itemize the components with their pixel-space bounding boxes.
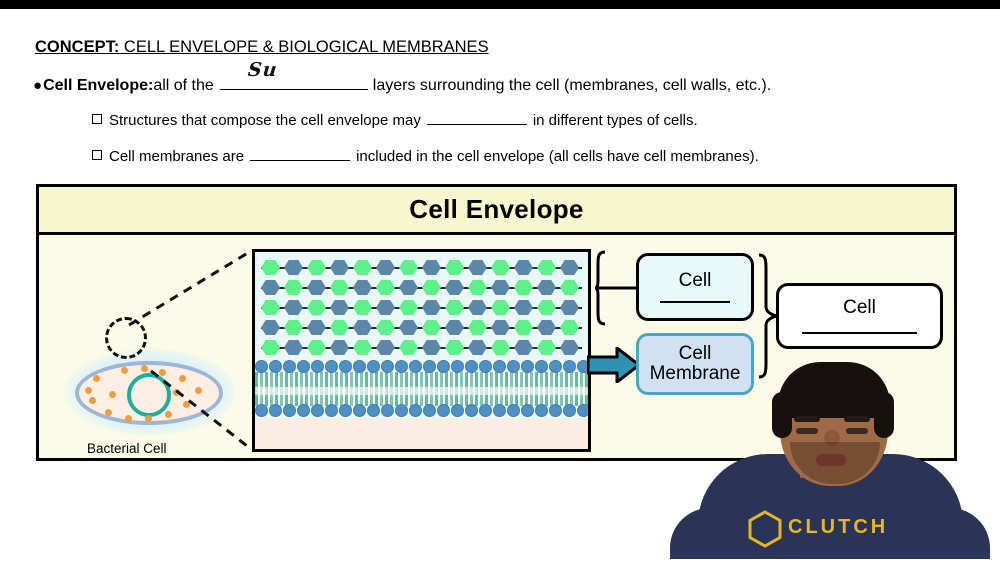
top-letterbox-bar (0, 0, 1000, 9)
ribosome-dot (145, 415, 152, 422)
peptidoglycan-row (255, 320, 588, 335)
cell-wall-box-blank (660, 301, 729, 303)
bullet-term: Cell Envelope: (43, 77, 153, 95)
cell-envelope-box[interactable]: Cell (776, 283, 943, 349)
phospholipid-bilayer (255, 360, 588, 418)
bullet-text-after: layers surrounding the cell (membranes, … (373, 77, 771, 95)
eye-right (846, 428, 868, 434)
blank-line-3 (250, 146, 350, 161)
ribosome-dot (141, 365, 148, 372)
ribosome-dot (85, 387, 92, 394)
slide-stage: CONCEPT: CELL ENVELOPE & BIOLOGICAL MEMB… (0, 0, 1000, 562)
membrane-detail-box (252, 249, 591, 452)
square-bullet-icon (92, 150, 102, 160)
bilayer-midline (255, 387, 588, 395)
peptidoglycan-row (255, 280, 588, 295)
ribosome-dot (105, 409, 112, 416)
cell-wall-brace-icon (595, 249, 639, 327)
ribosome-dot (89, 397, 96, 404)
figure-title: Cell Envelope (39, 187, 954, 235)
cell-envelope-box-label: Cell (843, 298, 876, 318)
bacterial-cell-illustration: Bacterial Cell (59, 335, 244, 460)
ribosome-dot (183, 401, 190, 408)
cytoplasm-region (255, 418, 588, 449)
clutch-hexagon-logo-icon (748, 510, 782, 548)
ribosome-dot (121, 367, 128, 374)
square-bullet-icon (92, 114, 102, 124)
ribosome-dot (109, 391, 116, 398)
peptidoglycan-row (255, 300, 588, 315)
eye-left (796, 428, 818, 434)
zoom-selection-circle (105, 317, 147, 359)
sub1-text-after: in different types of cells. (533, 112, 698, 129)
ribosome-dot (179, 375, 186, 382)
sub1-text-before: Structures that compose the cell envelop… (109, 112, 421, 129)
bilayer-outer-heads (255, 360, 588, 374)
blank-line-2 (427, 110, 527, 125)
cell-wall-box-label: Cell (679, 271, 712, 291)
concept-label: CONCEPT: (35, 38, 119, 56)
membrane-arrow-icon (587, 347, 641, 383)
sub2-text-after: included in the cell envelope (all cells… (356, 148, 759, 165)
sub-bullet-1: Structures that compose the cell envelop… (92, 110, 698, 129)
sub2-text-before: Cell membranes are (109, 148, 244, 165)
bullet-text-before: all of the (153, 77, 213, 95)
hair-left-side (772, 392, 792, 438)
concept-title: CELL ENVELOPE & BIOLOGICAL MEMBRANES (119, 38, 488, 56)
instructor-webcam-overlay: CLUTCH (660, 358, 1000, 562)
bullet-cell-envelope: ● Cell Envelope: all of the Su layers su… (33, 74, 771, 95)
blank-line-1: Su (220, 74, 368, 90)
bacterial-cell-label: Bacterial Cell (87, 441, 167, 456)
peptidoglycan-row (255, 340, 588, 355)
ribosome-dot (93, 375, 100, 382)
ribosome-dot (159, 369, 166, 376)
ribosome-dot (125, 415, 132, 422)
ribosome-dot (173, 389, 180, 396)
hair-right-side (874, 392, 894, 438)
shirt-brand-text: CLUTCH (788, 516, 888, 539)
plasmid-circle-icon (127, 373, 171, 417)
peptidoglycan-row (255, 260, 588, 275)
concept-heading: CONCEPT: CELL ENVELOPE & BIOLOGICAL MEMB… (35, 38, 489, 57)
peptidoglycan-layer (255, 252, 588, 362)
bullet-dot-icon: ● (33, 78, 42, 93)
cell-envelope-box-blank (802, 332, 918, 334)
sub-bullet-2: Cell membranes are included in the cell … (92, 146, 759, 165)
eyebrow-left (794, 416, 820, 422)
handwritten-answer-1: Su (247, 59, 279, 81)
ribosome-dot (195, 387, 202, 394)
eyebrow-right (844, 416, 870, 422)
mouth (816, 454, 846, 466)
bilayer-inner-heads (255, 404, 588, 418)
cell-wall-box[interactable]: Cell (636, 253, 754, 321)
ribosome-dot (165, 411, 172, 418)
